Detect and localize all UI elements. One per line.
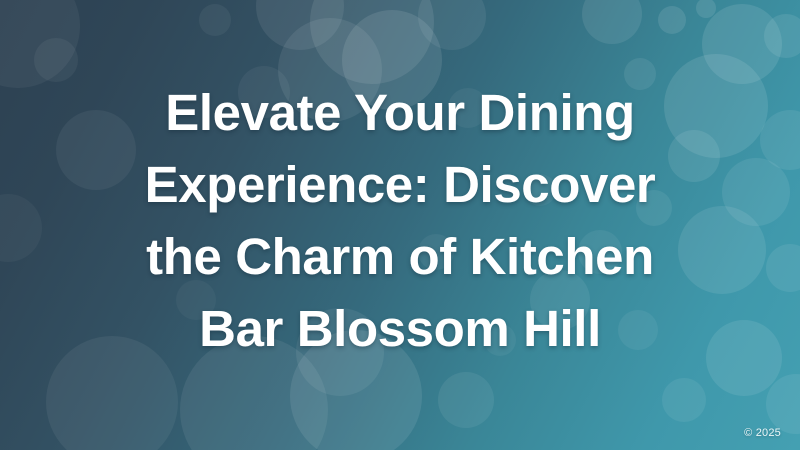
title-line-3: the Charm of Kitchen [146, 221, 654, 293]
title-line-1: Elevate Your Dining [165, 77, 634, 149]
title-slide: Elevate Your Dining Experience: Discover… [0, 0, 800, 450]
title-line-4: Bar Blossom Hill [199, 293, 601, 365]
copyright-notice: © 2025 [744, 427, 781, 439]
title-line-2: Experience: Discover [145, 149, 656, 221]
slide-title-block: Elevate Your Dining Experience: Discover… [0, 0, 800, 450]
